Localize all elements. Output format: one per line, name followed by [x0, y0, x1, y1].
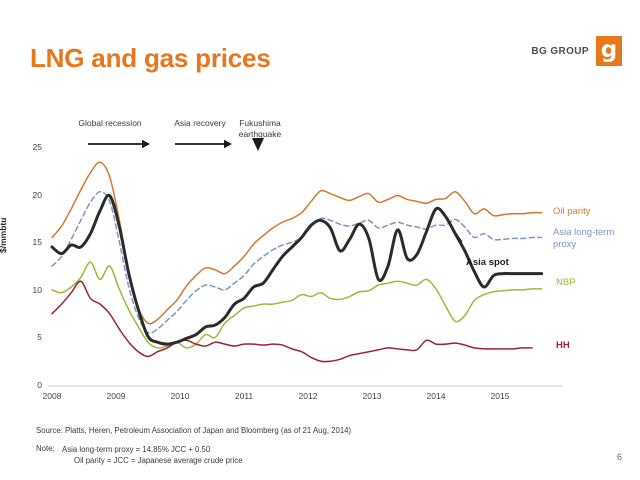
series-line-hh [52, 281, 532, 361]
page-number: 6 [617, 452, 622, 462]
slide-canvas: LNG and gas prices BG GROUP g $/mmbtu Gl… [0, 0, 640, 480]
x-axis-tick: 2010 [160, 391, 200, 401]
x-axis-tick: 2015 [480, 391, 520, 401]
series-label-asia-spot: Asia spot [466, 257, 509, 269]
y-axis-tick: 15 [20, 237, 42, 247]
footer-notes: Source: Platts, Heren, Petroleum Associa… [36, 426, 556, 467]
x-axis-tick: 2008 [32, 391, 72, 401]
y-axis-tick: 0 [20, 380, 42, 390]
y-axis-tick: 5 [20, 332, 42, 342]
series-label-hh: HH [556, 340, 570, 352]
lng-gas-price-chart: $/mmbtu Global recession Asia recovery F… [0, 105, 640, 410]
series-label-nbp: NBP [556, 277, 576, 289]
y-axis-label: $/mmbtu [0, 218, 8, 253]
series-label-oil-parity: Oil parity [553, 206, 590, 218]
x-axis-tick: 2011 [224, 391, 264, 401]
y-axis-tick: 10 [20, 285, 42, 295]
annotation-fukushima-earthquake: Fukushima earthquake [218, 118, 302, 139]
x-axis-tick: 2014 [416, 391, 456, 401]
series-label-asia-long-term-proxy: Asia long-term proxy [553, 227, 615, 251]
page-title: LNG and gas prices [30, 43, 271, 74]
note-lines: Asia long-term proxy = 14.85% JCC + 0.50… [62, 444, 243, 467]
annotation-global-recession: Global recession [68, 118, 152, 129]
logo-wordmark: BG GROUP [531, 46, 589, 57]
logo-glyph-icon: g [596, 36, 622, 66]
x-axis-tick: 2013 [352, 391, 392, 401]
note-line-1: Asia long-term proxy = 14.85% JCC + 0.50 [62, 444, 243, 455]
note-block: Note: Asia long-term proxy = 14.85% JCC … [36, 444, 556, 467]
note-line-2: Oil parity = JCC = Japanese average crud… [62, 455, 243, 466]
x-axis-tick: 2012 [288, 391, 328, 401]
y-axis-tick: 25 [20, 142, 42, 152]
note-label: Note: [36, 444, 62, 467]
chart-plot-area [0, 105, 640, 410]
bg-group-logo: BG GROUP g [531, 36, 622, 66]
x-axis-tick: 2009 [96, 391, 136, 401]
source-line: Source: Platts, Heren, Petroleum Associa… [36, 426, 556, 435]
y-axis-tick: 20 [20, 190, 42, 200]
